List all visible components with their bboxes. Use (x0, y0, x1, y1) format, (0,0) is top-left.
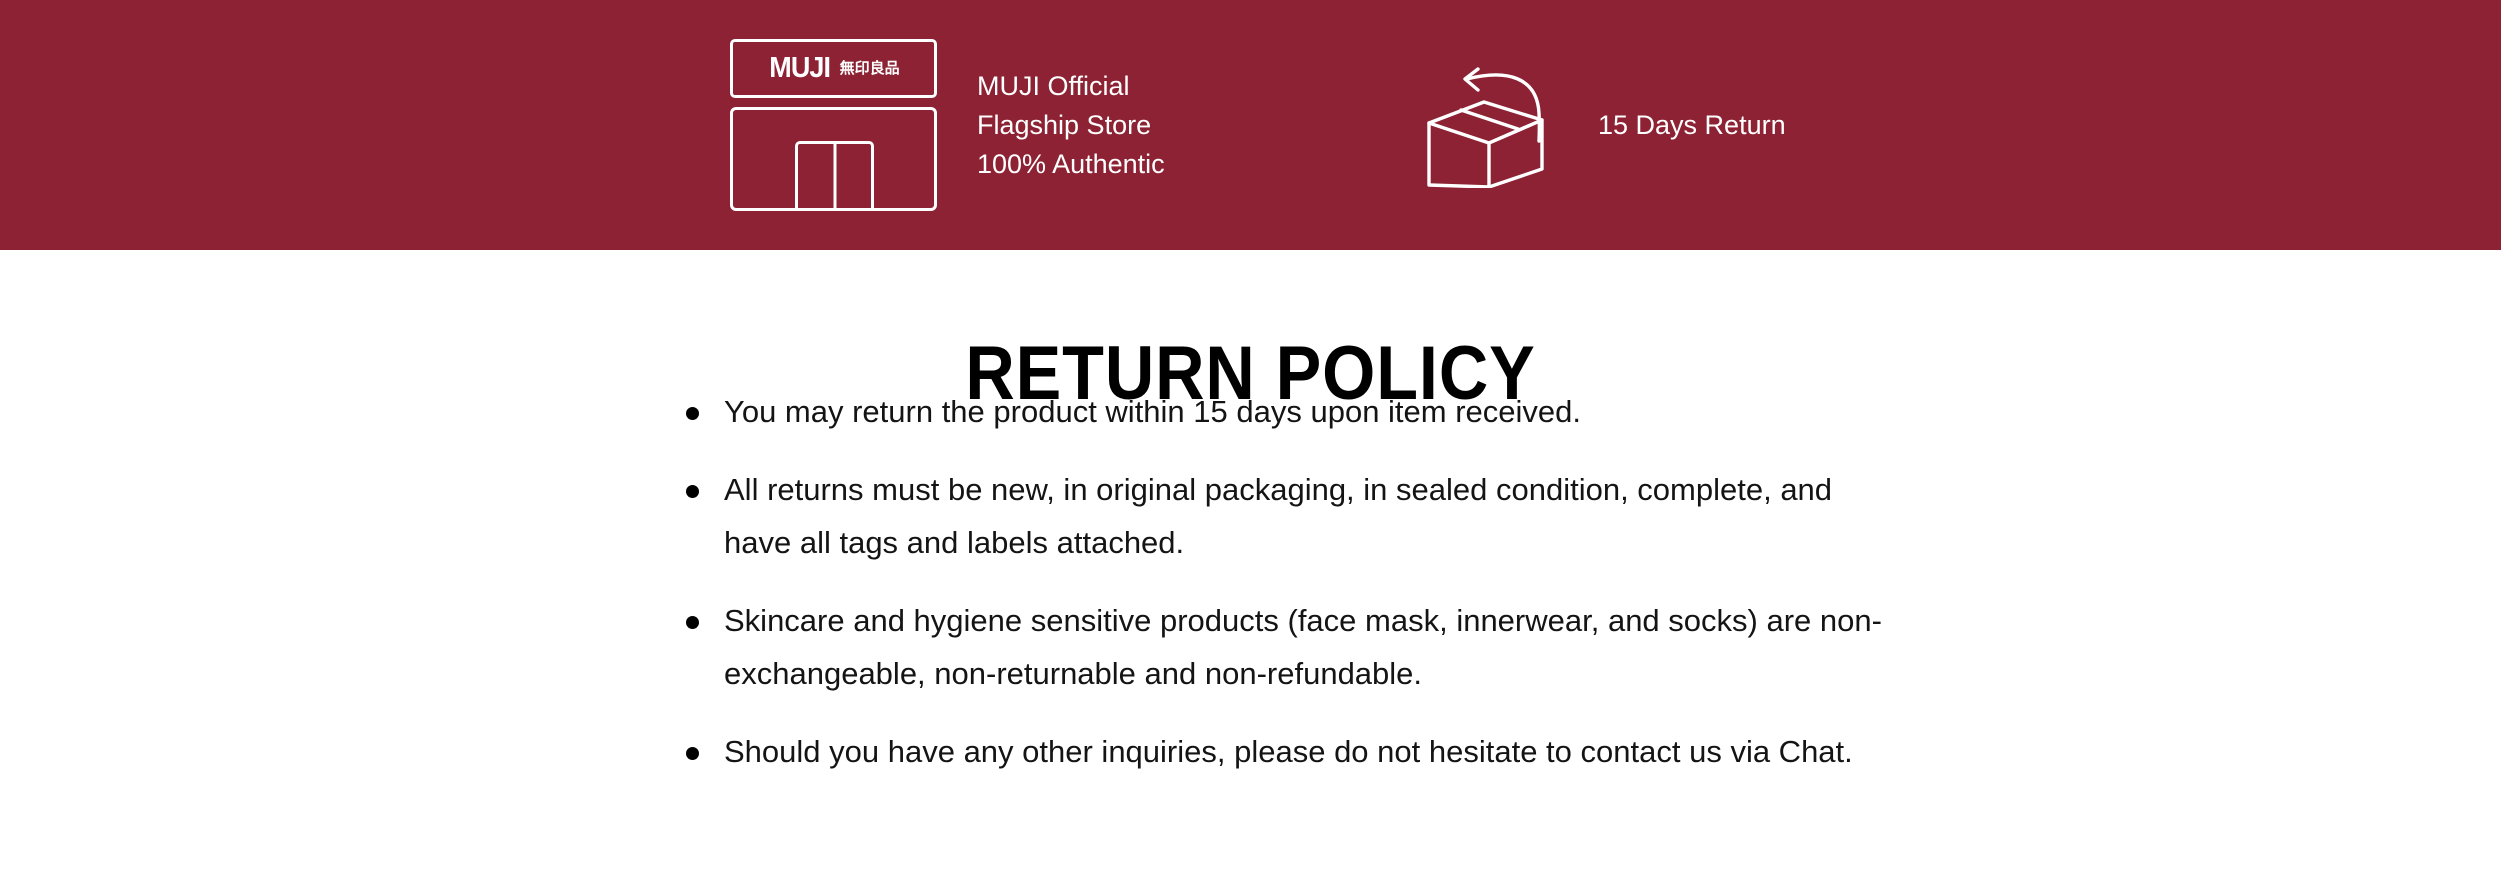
flagship-store-text-block: MUJI Official Flagship Store 100% Authen… (977, 67, 1165, 184)
bullet-icon (686, 407, 699, 420)
flagship-store-group: MUJI 無印良品 MUJI Official Flagship Store 1… (730, 0, 1165, 250)
flagship-line-2: Flagship Store (977, 106, 1165, 145)
policy-text: Skincare and hygiene sensitive products … (724, 594, 1884, 700)
brand-header-banner: MUJI 無印良品 MUJI Official Flagship Store 1… (0, 0, 2501, 250)
bullet-icon (686, 747, 699, 760)
return-promise-group: 15 Days Return (1415, 0, 1786, 250)
policy-list-item: You may return the product within 15 day… (686, 385, 1884, 438)
return-days-label: 15 Days Return (1598, 112, 1786, 139)
muji-wordmark-text: MUJI (770, 54, 831, 83)
bullet-icon (686, 616, 699, 629)
flagship-line-1: MUJI Official (977, 67, 1165, 106)
policy-list: You may return the product within 15 day… (686, 385, 2086, 778)
policy-list-item: All returns must be new, in original pac… (686, 463, 1884, 569)
storefront-door-divider-icon (833, 144, 836, 211)
muji-kanji-text: 無印良品 (840, 61, 900, 76)
storefront-icon: MUJI 無印良品 (730, 39, 937, 211)
storefront-door-icon (795, 141, 874, 211)
policy-list-item: Skincare and hygiene sensitive products … (686, 594, 1884, 700)
policy-text: All returns must be new, in original pac… (724, 463, 1884, 569)
header-content-row: MUJI 無印良品 MUJI Official Flagship Store 1… (0, 0, 2501, 250)
return-policy-content: RETURN POLICY You may return the product… (0, 250, 2501, 876)
policy-text: Should you have any other inquiries, ple… (724, 725, 1884, 778)
bullet-icon (686, 485, 699, 498)
policy-list-item: Should you have any other inquiries, ple… (686, 725, 1884, 778)
muji-signboard-icon: MUJI 無印良品 (730, 39, 937, 98)
flagship-line-3: 100% Authentic (977, 145, 1165, 184)
return-box-arrow-icon (1415, 63, 1570, 188)
policy-text: You may return the product within 15 day… (724, 385, 1884, 438)
storefront-body-icon (730, 107, 937, 211)
